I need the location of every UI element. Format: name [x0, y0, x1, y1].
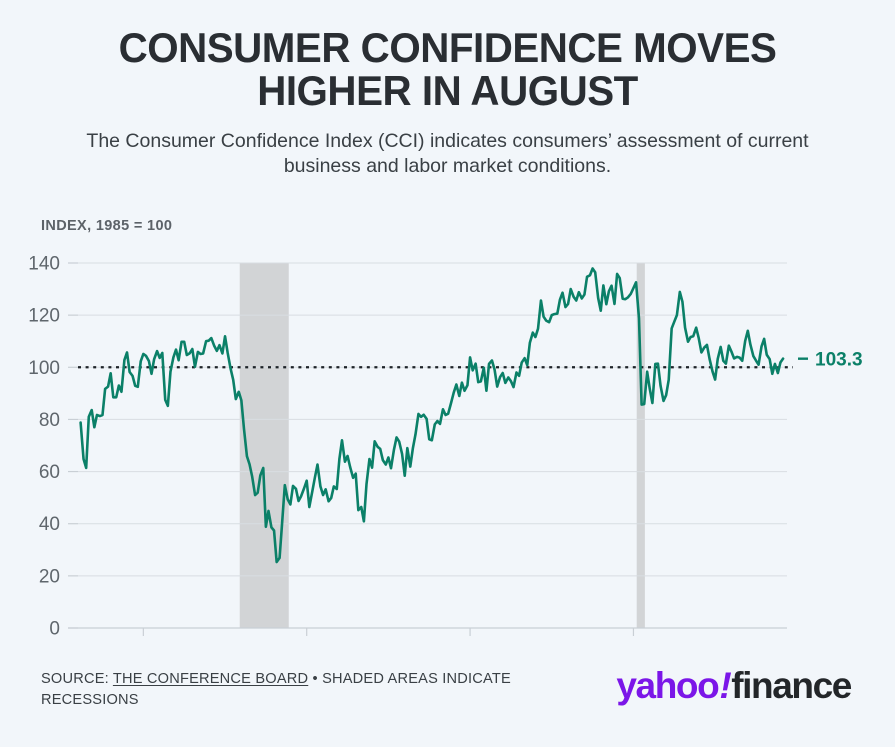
line-chart-svg: 020406080100120140 2005201020152020 103.… — [0, 246, 895, 646]
y-tick-labels: 020406080100120140 — [28, 254, 60, 640]
chart-header: CONSUMER CONFIDENCE MOVES HIGHER IN AUGU… — [0, 0, 895, 180]
chart-subtitle: The Consumer Confidence Index (CCI) indi… — [48, 129, 848, 181]
y-tick-label-40: 40 — [39, 514, 60, 535]
y-tick-label-80: 80 — [39, 410, 60, 431]
x-tick-label-2005: 2005 — [122, 644, 164, 646]
last-value-label: 103.3 — [798, 350, 863, 371]
series-line-0 — [81, 268, 783, 562]
chart-plot-area: 020406080100120140 2005201020152020 103.… — [0, 246, 895, 646]
y-tick-label-140: 140 — [28, 254, 60, 275]
y-tick-label-60: 60 — [39, 462, 60, 483]
x-tick-labels: 2005201020152020 — [122, 644, 654, 646]
y-tick-label-120: 120 — [28, 306, 60, 327]
series-paths — [81, 268, 783, 562]
gridlines — [78, 263, 787, 576]
y-axis-caption: INDEX, 1985 = 100 — [41, 218, 172, 234]
source-link[interactable]: THE CONFERENCE BOARD — [113, 671, 308, 687]
page-title: CONSUMER CONFIDENCE MOVES HIGHER IN AUGU… — [60, 26, 835, 113]
value-label-text: 103.3 — [815, 350, 863, 371]
yahoo-finance-logo: yahoo!finance — [616, 667, 851, 704]
logo-exclamation-icon: ! — [718, 665, 731, 706]
y-tick-label-0: 0 — [49, 619, 60, 640]
y-tick-label-20: 20 — [39, 566, 60, 587]
logo-finance-text: finance — [731, 665, 851, 706]
logo-yahoo-text: yahoo — [616, 665, 718, 706]
infographic-root: CONSUMER CONFIDENCE MOVES HIGHER IN AUGU… — [0, 0, 895, 747]
axis-lines — [68, 263, 787, 636]
x-tick-label-2015: 2015 — [449, 644, 491, 646]
recession-band — [240, 263, 289, 628]
x-tick-label-2010: 2010 — [286, 644, 328, 646]
y-tick-label-100: 100 — [28, 358, 60, 379]
source-prefix: SOURCE: — [41, 671, 113, 687]
x-tick-label-2020: 2020 — [612, 644, 654, 646]
chart-footer: SOURCE: THE CONFERENCE BOARD • SHADED AR… — [0, 657, 895, 747]
recession-bands — [240, 263, 645, 628]
source-note: SOURCE: THE CONFERENCE BOARD • SHADED AR… — [41, 669, 521, 710]
